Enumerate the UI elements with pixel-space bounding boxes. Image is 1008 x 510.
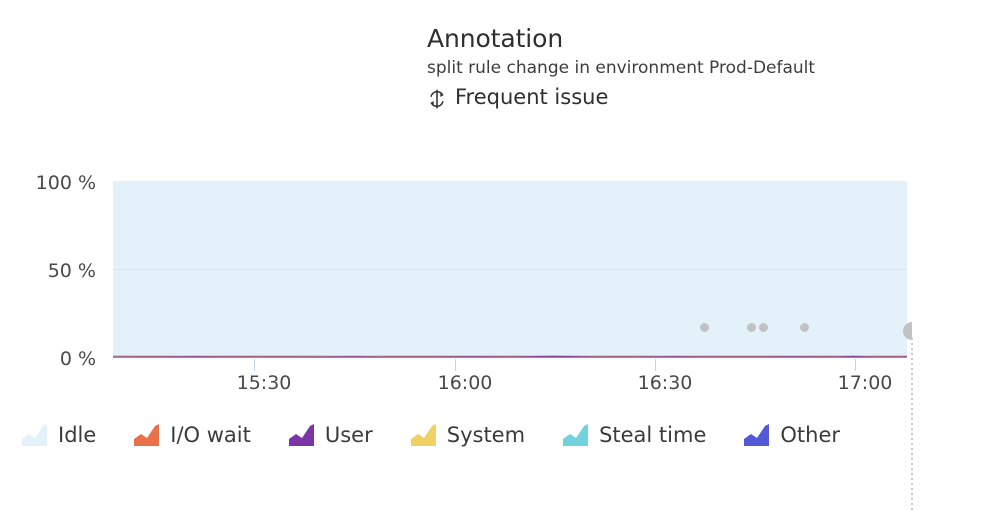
x-tick-mark xyxy=(455,359,456,371)
legend-label: System xyxy=(447,424,525,446)
legend-item-user[interactable]: User xyxy=(289,424,373,446)
annotation-marker-dot[interactable] xyxy=(800,323,809,332)
cpu-usage-chart[interactable]: 100 % 50 % 0 % 15:30 16:00 16:30 17:00 xyxy=(0,150,1008,400)
area-chart-icon xyxy=(563,424,590,446)
annotation-status: Frequent issue xyxy=(427,83,987,111)
area-chart-icon xyxy=(134,424,161,446)
x-tick-mark xyxy=(254,359,255,371)
area-chart-icon xyxy=(22,424,49,446)
x-tick-mark xyxy=(655,359,656,371)
legend-item-io-wait[interactable]: I/O wait xyxy=(134,424,251,446)
legend-item-other[interactable]: Other xyxy=(744,424,840,446)
annotation-status-label: Frequent issue xyxy=(455,83,608,111)
x-tick-1530: 15:30 xyxy=(237,372,292,394)
annotation-title: Annotation xyxy=(427,22,987,55)
annotation-marker-dot[interactable] xyxy=(747,323,756,332)
x-tick-1600: 16:00 xyxy=(438,372,493,394)
x-tick-1700: 17:00 xyxy=(838,372,893,394)
legend-label: Steal time xyxy=(599,424,706,446)
legend-label: Other xyxy=(780,424,840,446)
legend-label: I/O wait xyxy=(170,424,251,446)
legend-label: Idle xyxy=(58,424,96,446)
x-tick-1630: 16:30 xyxy=(638,372,693,394)
x-tick-mark xyxy=(855,359,856,371)
legend-item-idle[interactable]: Idle xyxy=(22,424,96,446)
annotation-subtitle: split rule change in environment Prod-De… xyxy=(427,56,987,81)
area-chart-icon xyxy=(289,424,316,446)
x-axis: 15:30 16:00 16:30 17:00 xyxy=(0,150,1008,400)
annotation-marker-dot[interactable] xyxy=(700,323,709,332)
area-chart-icon xyxy=(411,424,438,446)
chart-legend: Idle I/O wait User System Steal time Oth… xyxy=(22,424,992,446)
annotation-marker-dot[interactable] xyxy=(759,323,768,332)
repeat-icon xyxy=(427,88,447,108)
legend-label: User xyxy=(325,424,373,446)
area-chart-icon xyxy=(744,424,771,446)
legend-item-steal-time[interactable]: Steal time xyxy=(563,424,706,446)
legend-item-system[interactable]: System xyxy=(411,424,525,446)
annotation-header: Annotation split rule change in environm… xyxy=(427,22,987,111)
